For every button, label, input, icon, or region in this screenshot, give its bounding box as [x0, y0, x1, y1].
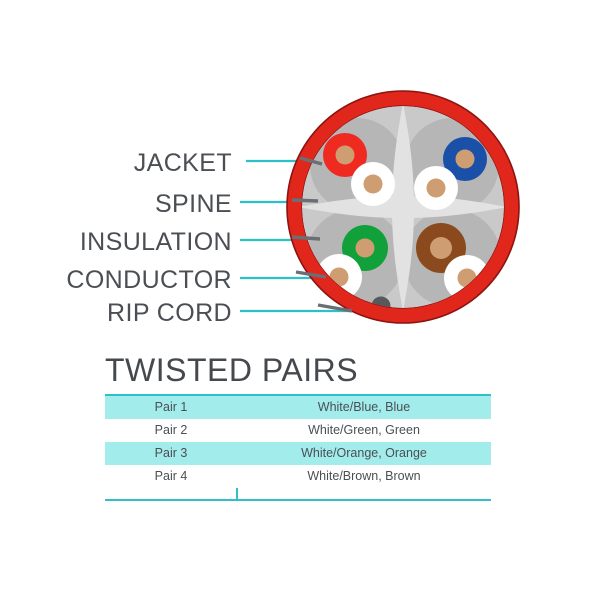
callout-label-conductor: CONDUCTOR	[66, 266, 232, 295]
wire-blue-solid	[443, 137, 487, 181]
leader-lines	[240, 161, 403, 311]
conductor-orange-white	[364, 175, 383, 194]
table-row[interactable]: Pair 4 White/Brown, Brown	[105, 465, 491, 488]
table-row[interactable]: Pair 3 White/Orange, Orange	[105, 442, 491, 465]
leader-tip-conductor	[296, 272, 326, 277]
twisted-pairs-table: Pair 1 White/Blue, Blue Pair 2 White/Gre…	[105, 396, 491, 488]
jacket-inner-edge	[302, 106, 504, 308]
diagram-canvas: JACKET SPINE INSULATION CONDUCTOR RIP CO…	[0, 0, 600, 600]
conductor-orange-solid	[336, 146, 355, 165]
rip-cord	[372, 297, 391, 316]
cell-pair-name: Pair 2	[105, 419, 237, 442]
conductor-blue-solid	[456, 150, 475, 169]
wire-green-solid	[342, 225, 388, 271]
leader-tips	[292, 158, 352, 311]
wire-green-white	[316, 254, 362, 300]
conductor-brown-solid	[430, 237, 452, 259]
cell-pair-colors: White/Blue, Blue	[237, 396, 491, 419]
cell-pair-colors: White/Green, Green	[237, 419, 491, 442]
pocket-top-left	[310, 118, 404, 212]
leader-tip-insulation	[292, 237, 320, 239]
wire-brown-solid	[416, 223, 466, 273]
leader-tip-spine	[292, 200, 318, 201]
wire-orange-solid	[323, 133, 367, 177]
cell-pair-colors: White/Orange, Orange	[237, 442, 491, 465]
table-rule-bottom	[105, 499, 491, 501]
spine-cross	[299, 103, 507, 311]
spine-horizontal	[299, 196, 507, 218]
jacket-ring	[287, 91, 519, 323]
pocket-top-right	[405, 118, 499, 212]
conductor-blue-white	[427, 179, 446, 198]
callout-label-jacket: JACKET	[134, 149, 232, 178]
shield-backdrop	[302, 106, 504, 308]
spine-vertical	[392, 103, 414, 311]
pocket-bottom-right	[403, 209, 501, 307]
pocket-bottom-left	[306, 209, 404, 307]
cell-pair-colors: White/Brown, Brown	[237, 465, 491, 488]
conductor-green-white	[330, 268, 349, 287]
leader-tip-jacket	[300, 158, 322, 164]
callout-label-insulation: INSULATION	[80, 228, 232, 257]
callout-label-spine: SPINE	[155, 190, 232, 219]
conductor-green-solid	[356, 239, 375, 258]
cell-pair-name: Pair 4	[105, 465, 237, 488]
table-row[interactable]: Pair 2 White/Green, Green	[105, 419, 491, 442]
cell-pair-name: Pair 3	[105, 442, 237, 465]
spine-hub	[390, 194, 416, 220]
wire-orange-white	[351, 162, 395, 206]
conductor-brown-white	[458, 269, 477, 288]
leader-tip-rip-cord	[318, 305, 352, 311]
wire-blue-white	[414, 166, 458, 210]
cell-pair-name: Pair 1	[105, 396, 237, 419]
callout-label-rip-cord: RIP CORD	[107, 299, 232, 328]
table-row[interactable]: Pair 1 White/Blue, Blue	[105, 396, 491, 419]
pair-pockets	[306, 118, 501, 307]
cable-cross-section	[0, 0, 600, 600]
wire-brown-white	[444, 255, 490, 301]
twisted-pairs-heading: TWISTED PAIRS	[105, 352, 358, 389]
